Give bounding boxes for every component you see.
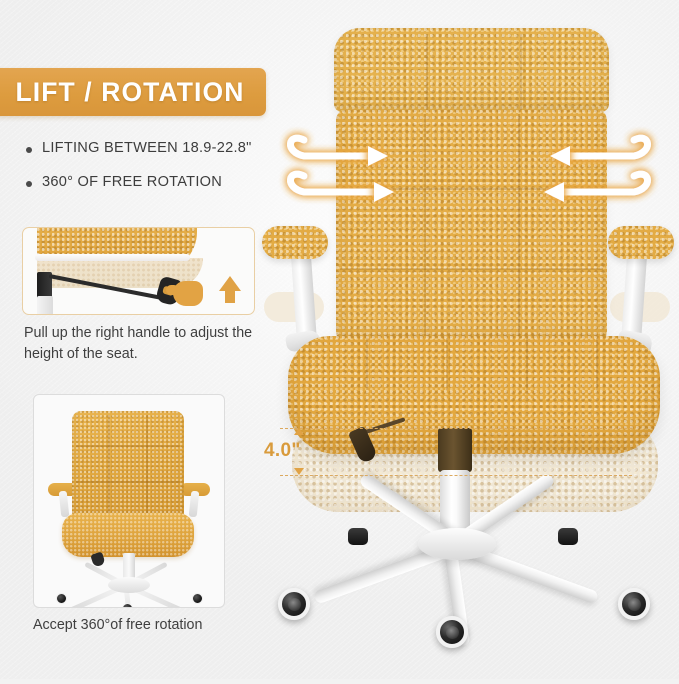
caster-front [436, 616, 468, 648]
armrest-left [262, 226, 328, 259]
mini-seat [62, 513, 194, 557]
caster-rear-right [558, 528, 578, 545]
rotation-caption: Accept 360°of free rotation [33, 617, 248, 633]
bullet-dot-icon [26, 181, 32, 187]
armrest-right [608, 226, 674, 259]
hand-icon [173, 281, 203, 306]
rotation-photo-card [33, 394, 225, 608]
headrest-seam [520, 34, 522, 110]
seat-seam [366, 338, 368, 390]
seat-seam [446, 338, 448, 390]
headrest-seam [426, 34, 428, 110]
handle-caption: Pull up the right handle to adjust the h… [24, 323, 274, 365]
backrest-seam-h [340, 188, 603, 190]
chair-post-white [37, 296, 53, 315]
mini-caster-left [56, 593, 67, 604]
backrest [336, 110, 607, 347]
mini-backrest [72, 411, 184, 521]
chair-illustration [258, 28, 679, 679]
caster-left [278, 588, 310, 620]
mini-caster-right [192, 593, 203, 604]
bullet-dot-icon [26, 147, 32, 153]
mini-base-hub [108, 577, 150, 593]
seat-seam [526, 338, 528, 390]
feature-item-rotation: 360° OF FREE ROTATION [26, 174, 316, 191]
seat-frame-edge [35, 254, 190, 261]
mini-armrest-post-right [189, 491, 200, 518]
banner-title: LIFT / ROTATION [16, 77, 245, 108]
caster-rear-left [348, 528, 368, 545]
feature-label: LIFTING BETWEEN 18.9-22.8" [42, 140, 252, 157]
dimension-line-top [280, 428, 632, 429]
backrest-seam-v [424, 114, 426, 343]
dimension-arrow-up [294, 428, 304, 435]
backrest-seam-v [518, 114, 520, 343]
base-hub [418, 528, 496, 560]
handle-closeup-card [22, 227, 255, 315]
dimension-arrow-down [294, 468, 304, 475]
feature-label: 360° OF FREE ROTATION [42, 174, 222, 191]
section-banner: LIFT / ROTATION [0, 68, 266, 116]
height-dimension: 4.0" [258, 420, 438, 490]
dimension-line-bottom [280, 475, 632, 476]
backrest-seam-h [340, 268, 603, 270]
gas-cylinder-upper [438, 428, 472, 472]
feature-item-lifting: LIFTING BETWEEN 18.9-22.8" [26, 140, 316, 157]
headrest [334, 28, 609, 112]
seat-seam [596, 338, 598, 390]
caster-right [618, 588, 650, 620]
mini-caster-front [122, 603, 133, 608]
up-arrow-icon [219, 276, 241, 291]
dimension-label: 4.0" [264, 440, 301, 462]
feature-list: LIFTING BETWEEN 18.9-22.8" 360° OF FREE … [26, 140, 316, 208]
